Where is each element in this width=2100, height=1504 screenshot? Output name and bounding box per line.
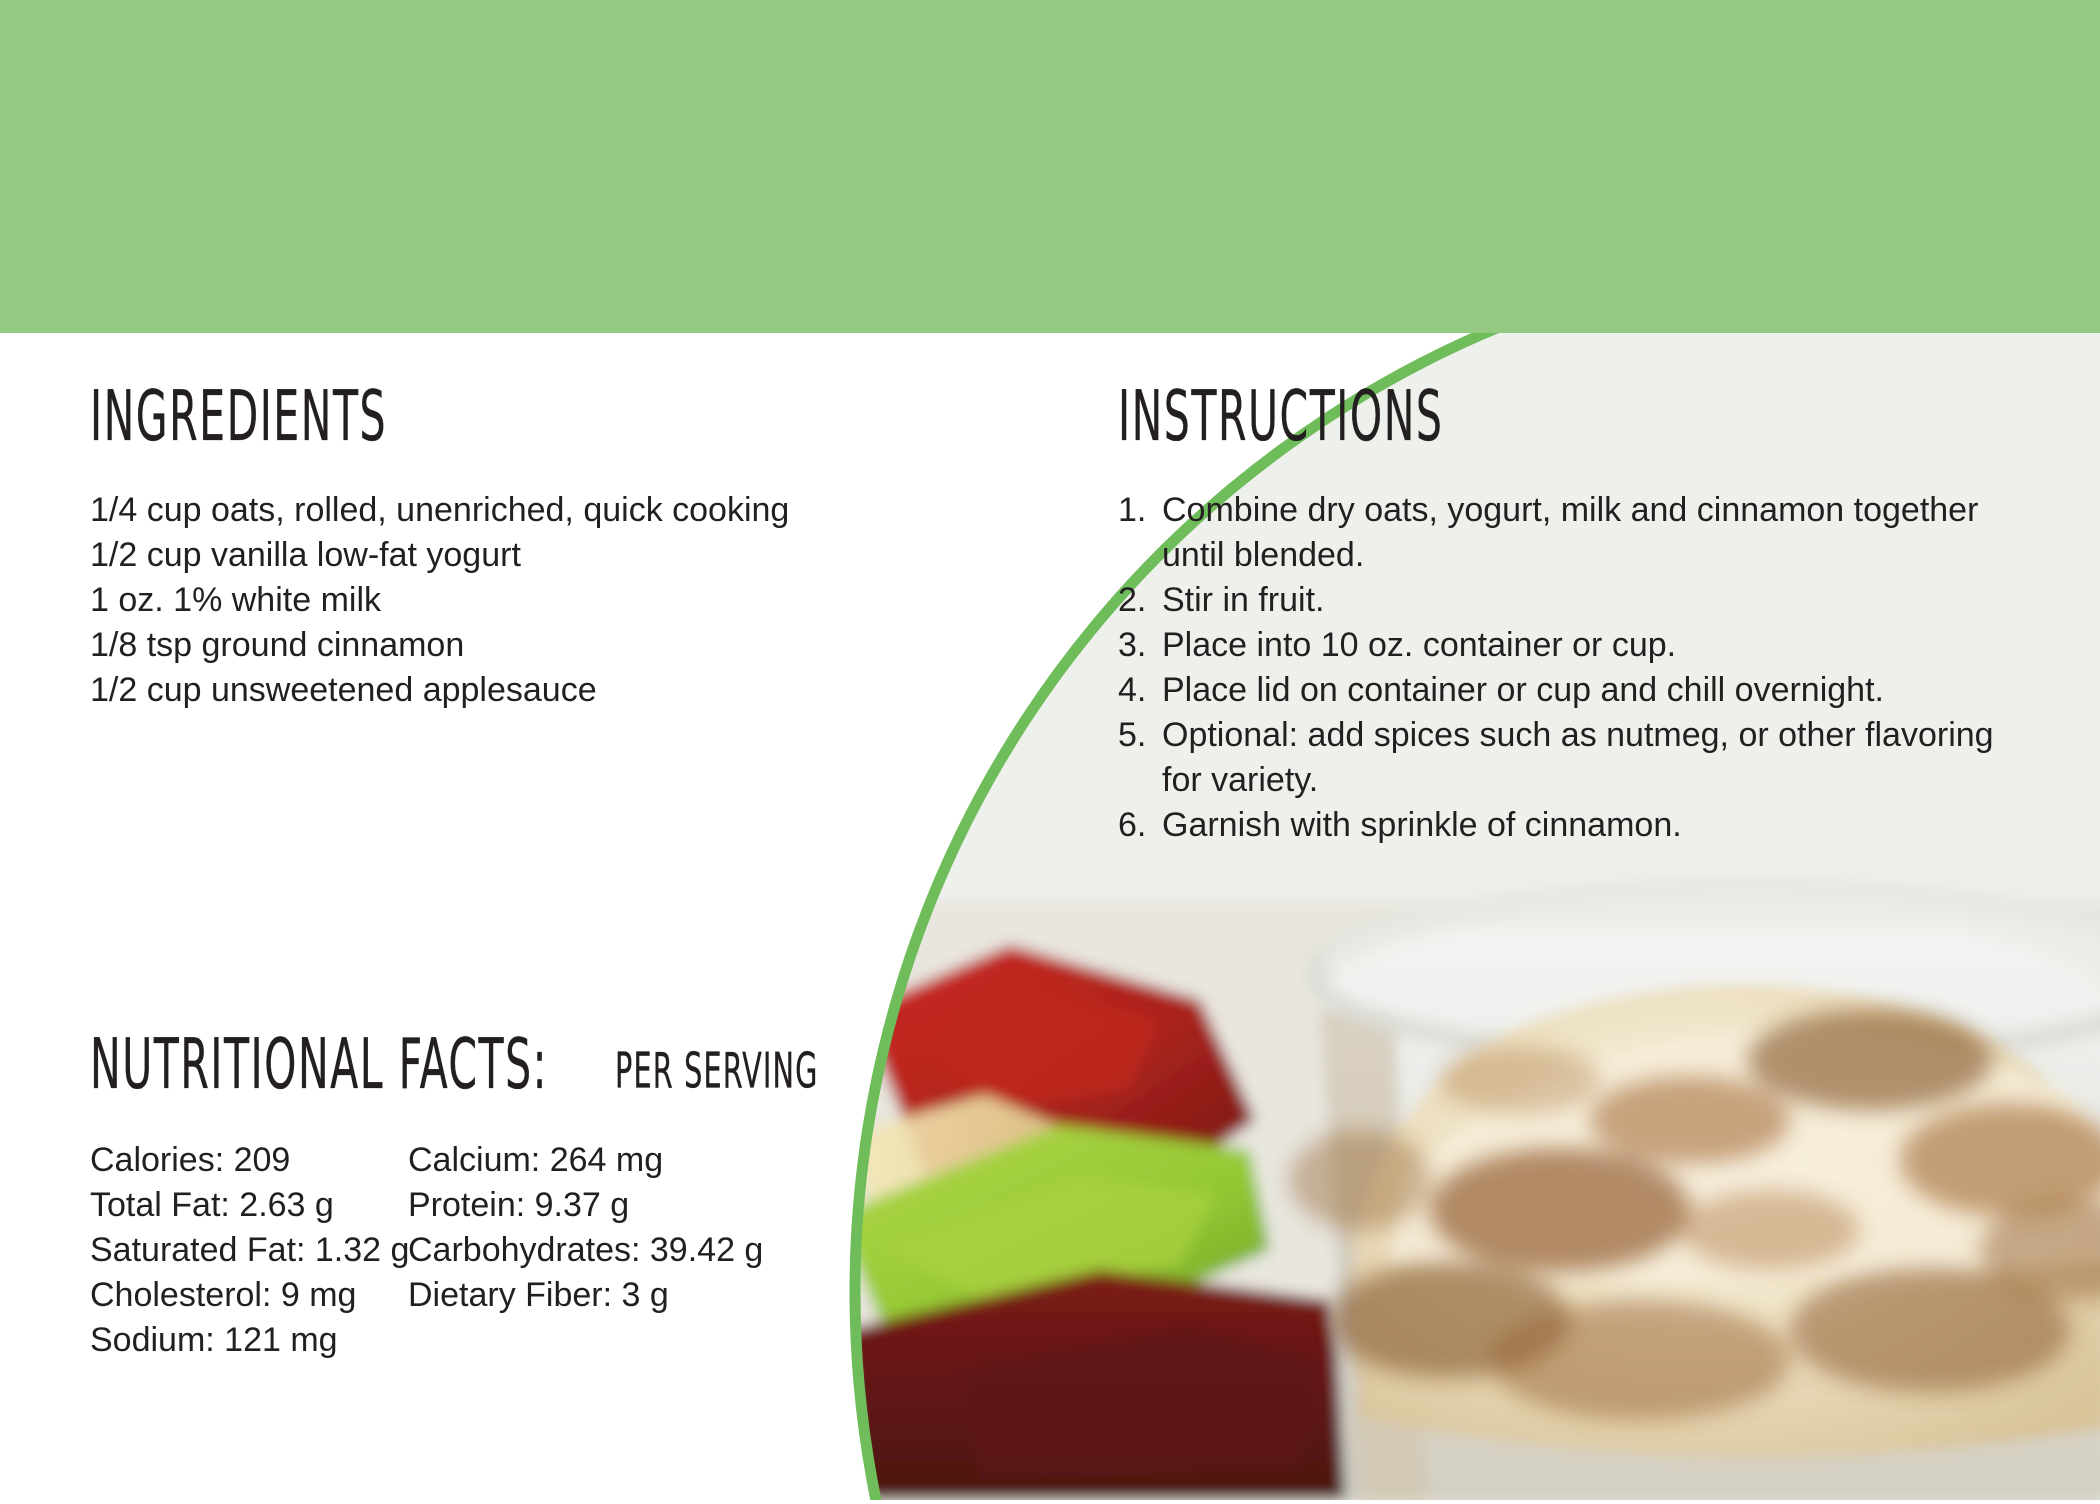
list-item: 1/4 cup oats, rolled, unenriched, quick …	[90, 488, 789, 533]
list-item: Protein: 9.37 g	[408, 1183, 828, 1228]
step-number: 4.	[1118, 668, 1162, 713]
ingredients-section: INGREDIENTS 1/4 cup oats, rolled, unenri…	[90, 382, 789, 713]
ingredients-heading: INGREDIENTS	[90, 376, 621, 457]
list-item: 2. Stir in fruit.	[1118, 578, 2038, 623]
list-item: Saturated Fat: 1.32 g	[90, 1228, 408, 1273]
instructions-heading: INSTRUCTIONS	[1118, 376, 1817, 457]
list-item: 1/2 cup vanilla low-fat yogurt	[90, 533, 789, 578]
step-text: Garnish with sprinkle of cinnamon.	[1162, 803, 2038, 848]
list-item: Cholesterol: 9 mg	[90, 1273, 408, 1318]
list-item: 4. Place lid on container or cup and chi…	[1118, 668, 2038, 713]
list-item: Calories: 209	[90, 1138, 408, 1183]
list-item: Sodium: 121 mg	[90, 1318, 408, 1363]
nutrition-heading: NUTRITIONAL FACTS: PER SERVING	[90, 1030, 882, 1100]
list-item: Carbohydrates: 39.42 g	[408, 1228, 828, 1273]
step-text: Stir in fruit.	[1162, 578, 2038, 623]
nutrition-list-left: Calories: 209 Total Fat: 2.63 g Saturate…	[90, 1138, 408, 1363]
list-item: 1. Combine dry oats, yogurt, milk and ci…	[1118, 488, 2038, 578]
nutrition-list-right: Calcium: 264 mg Protein: 9.37 g Carbohyd…	[408, 1138, 828, 1318]
header-band	[0, 0, 2100, 333]
step-text: Place into 10 oz. container or cup.	[1162, 623, 2038, 668]
step-text: Combine dry oats, yogurt, milk and cinna…	[1162, 488, 2038, 578]
ingredients-list: 1/4 cup oats, rolled, unenriched, quick …	[90, 488, 789, 713]
nutrition-section: NUTRITIONAL FACTS: PER SERVING Calories:…	[90, 1030, 882, 1363]
step-number: 5.	[1118, 713, 1162, 758]
nutrition-heading-main: NUTRITIONAL FACTS:	[90, 1024, 548, 1105]
list-item: 1/2 cup unsweetened applesauce	[90, 668, 789, 713]
list-item: 1/8 tsp ground cinnamon	[90, 623, 789, 668]
nutrition-column-right: Calcium: 264 mg Protein: 9.37 g Carbohyd…	[408, 1138, 828, 1363]
list-item: Total Fat: 2.63 g	[90, 1183, 408, 1228]
list-item: Dietary Fiber: 3 g	[408, 1273, 828, 1318]
step-text: Optional: add spices such as nutmeg, or …	[1162, 713, 2038, 803]
nutrition-heading-qualifier: PER SERVING	[615, 1042, 818, 1099]
list-item: 3. Place into 10 oz. container or cup.	[1118, 623, 2038, 668]
list-item: 6. Garnish with sprinkle of cinnamon.	[1118, 803, 2038, 848]
list-item: 1 oz. 1% white milk	[90, 578, 789, 623]
step-number: 2.	[1118, 578, 1162, 623]
step-number: 6.	[1118, 803, 1162, 848]
step-number: 3.	[1118, 623, 1162, 668]
nutrition-column-left: Calories: 209 Total Fat: 2.63 g Saturate…	[90, 1138, 408, 1363]
step-text: Place lid on container or cup and chill …	[1162, 668, 2038, 713]
list-item: 5. Optional: add spices such as nutmeg, …	[1118, 713, 2038, 803]
step-number: 1.	[1118, 488, 1162, 533]
instructions-section: INSTRUCTIONS 1. Combine dry oats, yogurt…	[1118, 382, 2038, 848]
cinnamon-sprinkle	[1290, 1010, 2100, 1420]
instructions-list: 1. Combine dry oats, yogurt, milk and ci…	[1118, 488, 2038, 848]
list-item: Calcium: 264 mg	[408, 1138, 828, 1183]
